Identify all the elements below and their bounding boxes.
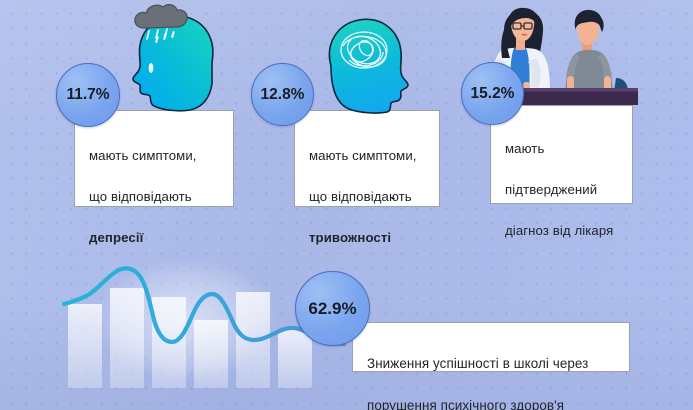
- head-with-tangled-thoughts-icon: [305, 6, 417, 114]
- stat-line-3-emphasis: депресії: [89, 230, 143, 245]
- stat-percent: 11.7%: [66, 86, 109, 104]
- rain-cloud-icon: [135, 5, 187, 28]
- stat-badge-school-performance: 62.9%: [295, 271, 370, 346]
- stat-trailing-mark: -: [391, 191, 395, 204]
- patient-figure: [565, 10, 613, 100]
- stat-line-2: що відповідають: [89, 189, 192, 204]
- stat-card-anxiety: мають симптоми, що відповідають тривожно…: [294, 110, 440, 207]
- infographic-canvas: 11.7% мають симптоми, що відповідають де…: [0, 0, 693, 410]
- head-with-rain-cloud-icon: [120, 0, 240, 115]
- stat-line-2: підтверджений: [505, 182, 597, 197]
- stat-card-text: мають підтверджений діагноз від лікаря: [505, 118, 613, 241]
- stat-line-1: мають симптоми,: [89, 148, 197, 163]
- stat-card-text: Зниження успішності в школі через поруше…: [367, 332, 588, 410]
- stat-line-3: діагноз від лікаря: [505, 223, 613, 238]
- stat-percent: 12.8%: [261, 86, 305, 104]
- stat-card-text: мають симптоми, що відповідають тривожно…: [309, 125, 417, 248]
- stat-line-3-emphasis: тривожності: [309, 230, 391, 245]
- stat-card-school-performance: Зниження успішності в школі через поруше…: [352, 322, 630, 372]
- stat-percent: 15.2%: [471, 85, 515, 103]
- stat-line-1: Зниження успішності в школі через: [367, 356, 588, 371]
- stat-badge-anxiety: 12.8%: [251, 63, 314, 126]
- stat-line-1: мають симптоми,: [309, 148, 417, 163]
- stat-line-2: порушення психічного здоров'я: [367, 398, 564, 410]
- stat-card-text: мають симптоми, що відповідають депресії: [89, 125, 197, 248]
- stat-line-2: що відповідають: [309, 189, 412, 204]
- stat-badge-depression: 11.7%: [56, 63, 120, 127]
- stat-percent: 62.9%: [308, 299, 356, 319]
- stat-badge-diagnosis: 15.2%: [461, 62, 524, 125]
- stat-card-diagnosis: мають підтверджений діагноз від лікаря: [490, 105, 633, 204]
- stat-line-1: мають: [505, 141, 544, 156]
